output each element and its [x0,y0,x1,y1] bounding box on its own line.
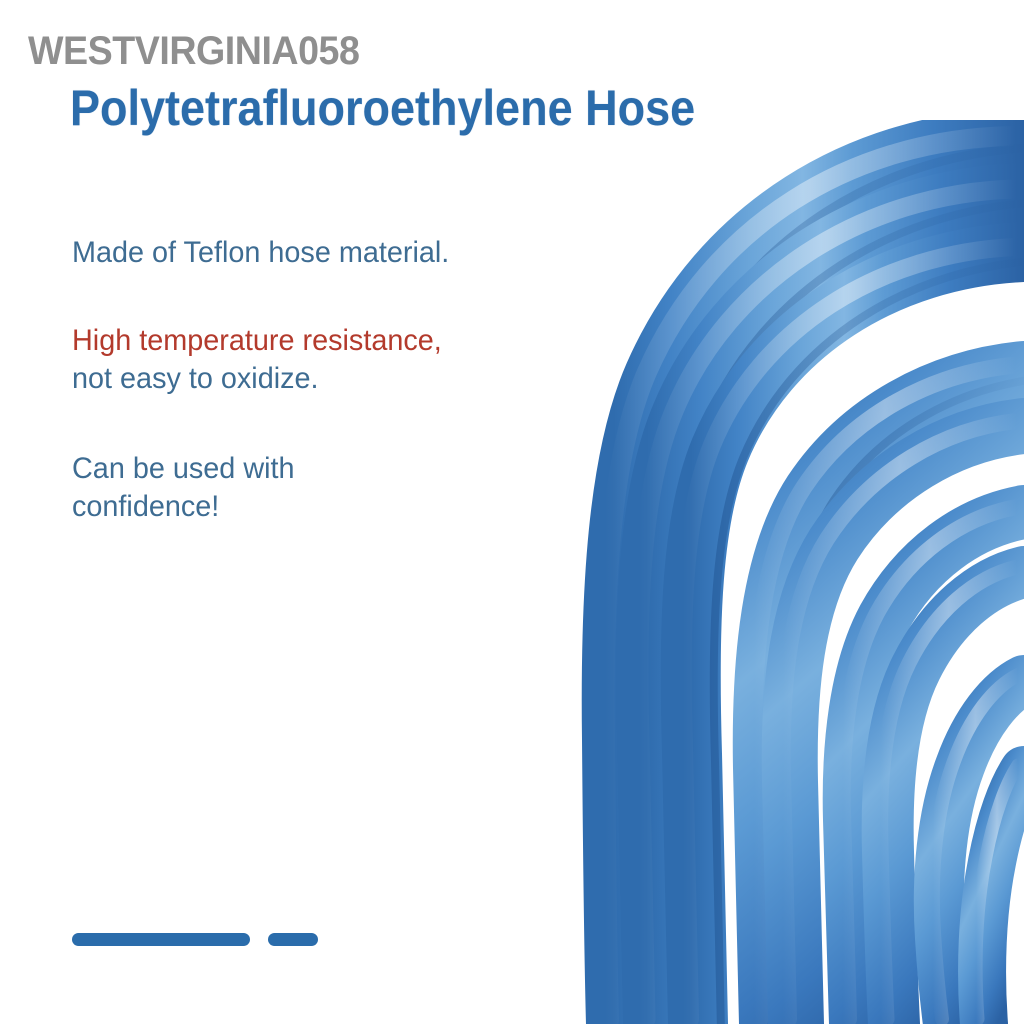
feature-heat-resistance: High temperature resistance, not easy to… [72,322,442,398]
decorative-pill-short [268,933,318,946]
feature-line-emphasis: High temperature resistance, [72,322,442,360]
page-title: Polytetrafluoroethylene Hose [70,79,695,137]
feature-line: confidence! [72,488,295,526]
feature-material: Made of Teflon hose material. [72,234,449,272]
feature-confidence: Can be used with confidence! [72,450,295,526]
product-infographic: WESTVIRGINIA058 Polytetrafluoroethylene … [0,0,1024,1024]
decorative-pill-group [72,933,318,946]
feature-line: Made of Teflon hose material. [72,234,449,272]
decorative-pill-long [72,933,250,946]
seller-watermark: WESTVIRGINIA058 [28,29,359,73]
feature-line: Can be used with [72,450,295,488]
feature-line: not easy to oxidize. [72,360,442,398]
